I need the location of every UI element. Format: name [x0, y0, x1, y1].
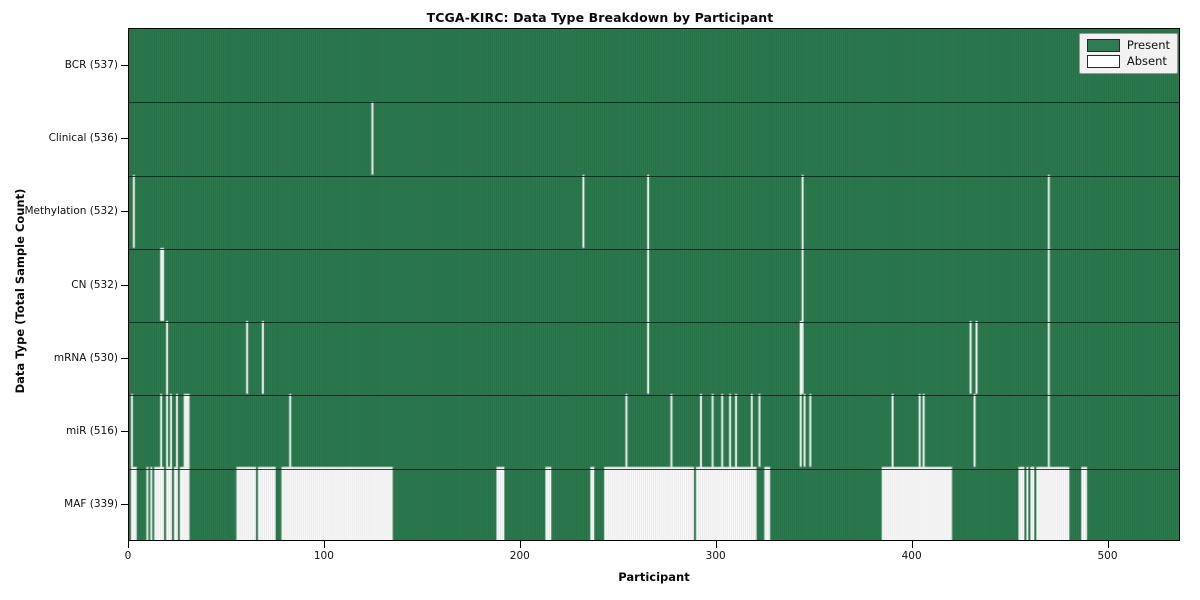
x-tick-mark-300: [716, 541, 717, 548]
heatmap-plot-area[interactable]: [128, 28, 1180, 541]
x-tick-label-0: 0: [125, 550, 132, 562]
legend-item-present[interactable]: Present: [1087, 38, 1170, 52]
x-tick-label-500: 500: [1097, 550, 1117, 562]
x-tick-mark-500: [1108, 541, 1109, 548]
y-axis-label: Data Type (Total Sample Count): [13, 31, 27, 551]
legend-box[interactable]: PresentAbsent: [1079, 33, 1178, 74]
row-separator: [129, 469, 1179, 470]
heatmap-cells: [129, 29, 1179, 540]
legend-label-absent: Absent: [1127, 54, 1167, 68]
y-tick-label-bcr: BCR (537): [65, 59, 118, 71]
y-tick-label-maf: MAF (339): [64, 498, 118, 510]
x-tick-label-200: 200: [510, 550, 530, 562]
x-tick-mark-400: [912, 541, 913, 548]
x-tick-label-400: 400: [902, 550, 922, 562]
legend-swatch-absent: [1087, 55, 1120, 68]
row-separator: [129, 176, 1179, 177]
y-tick-mark-mrna: [121, 358, 128, 359]
y-tick-mark-bcr: [121, 65, 128, 66]
legend-label-present: Present: [1127, 38, 1170, 52]
y-tick-mark-methylation: [121, 211, 128, 212]
legend-swatch-present: [1087, 39, 1120, 52]
y-tick-mark-maf: [121, 504, 128, 505]
row-separator: [129, 322, 1179, 323]
y-tick-label-mir: miR (516): [66, 425, 118, 437]
y-tick-mark-cn: [121, 285, 128, 286]
y-tick-label-clinical: Clinical (536): [49, 132, 118, 144]
row-separator: [129, 249, 1179, 250]
x-tick-label-300: 300: [706, 550, 726, 562]
x-tick-label-100: 100: [314, 550, 334, 562]
x-tick-mark-0: [128, 541, 129, 548]
chart-title: TCGA-KIRC: Data Type Breakdown by Partic…: [0, 10, 1200, 25]
x-tick-mark-200: [520, 541, 521, 548]
figure-canvas: TCGA-KIRC: Data Type Breakdown by Partic…: [0, 0, 1200, 600]
y-tick-mark-clinical: [121, 138, 128, 139]
y-tick-label-methylation: Methylation (532): [24, 205, 118, 217]
y-tick-mark-mir: [121, 431, 128, 432]
x-tick-mark-100: [324, 541, 325, 548]
row-separator: [129, 395, 1179, 396]
x-axis-label: Participant: [128, 570, 1180, 584]
y-tick-label-mrna: mRNA (530): [54, 352, 118, 364]
row-separator: [129, 102, 1179, 103]
legend-item-absent[interactable]: Absent: [1087, 54, 1170, 68]
y-tick-label-cn: CN (532): [71, 279, 118, 291]
